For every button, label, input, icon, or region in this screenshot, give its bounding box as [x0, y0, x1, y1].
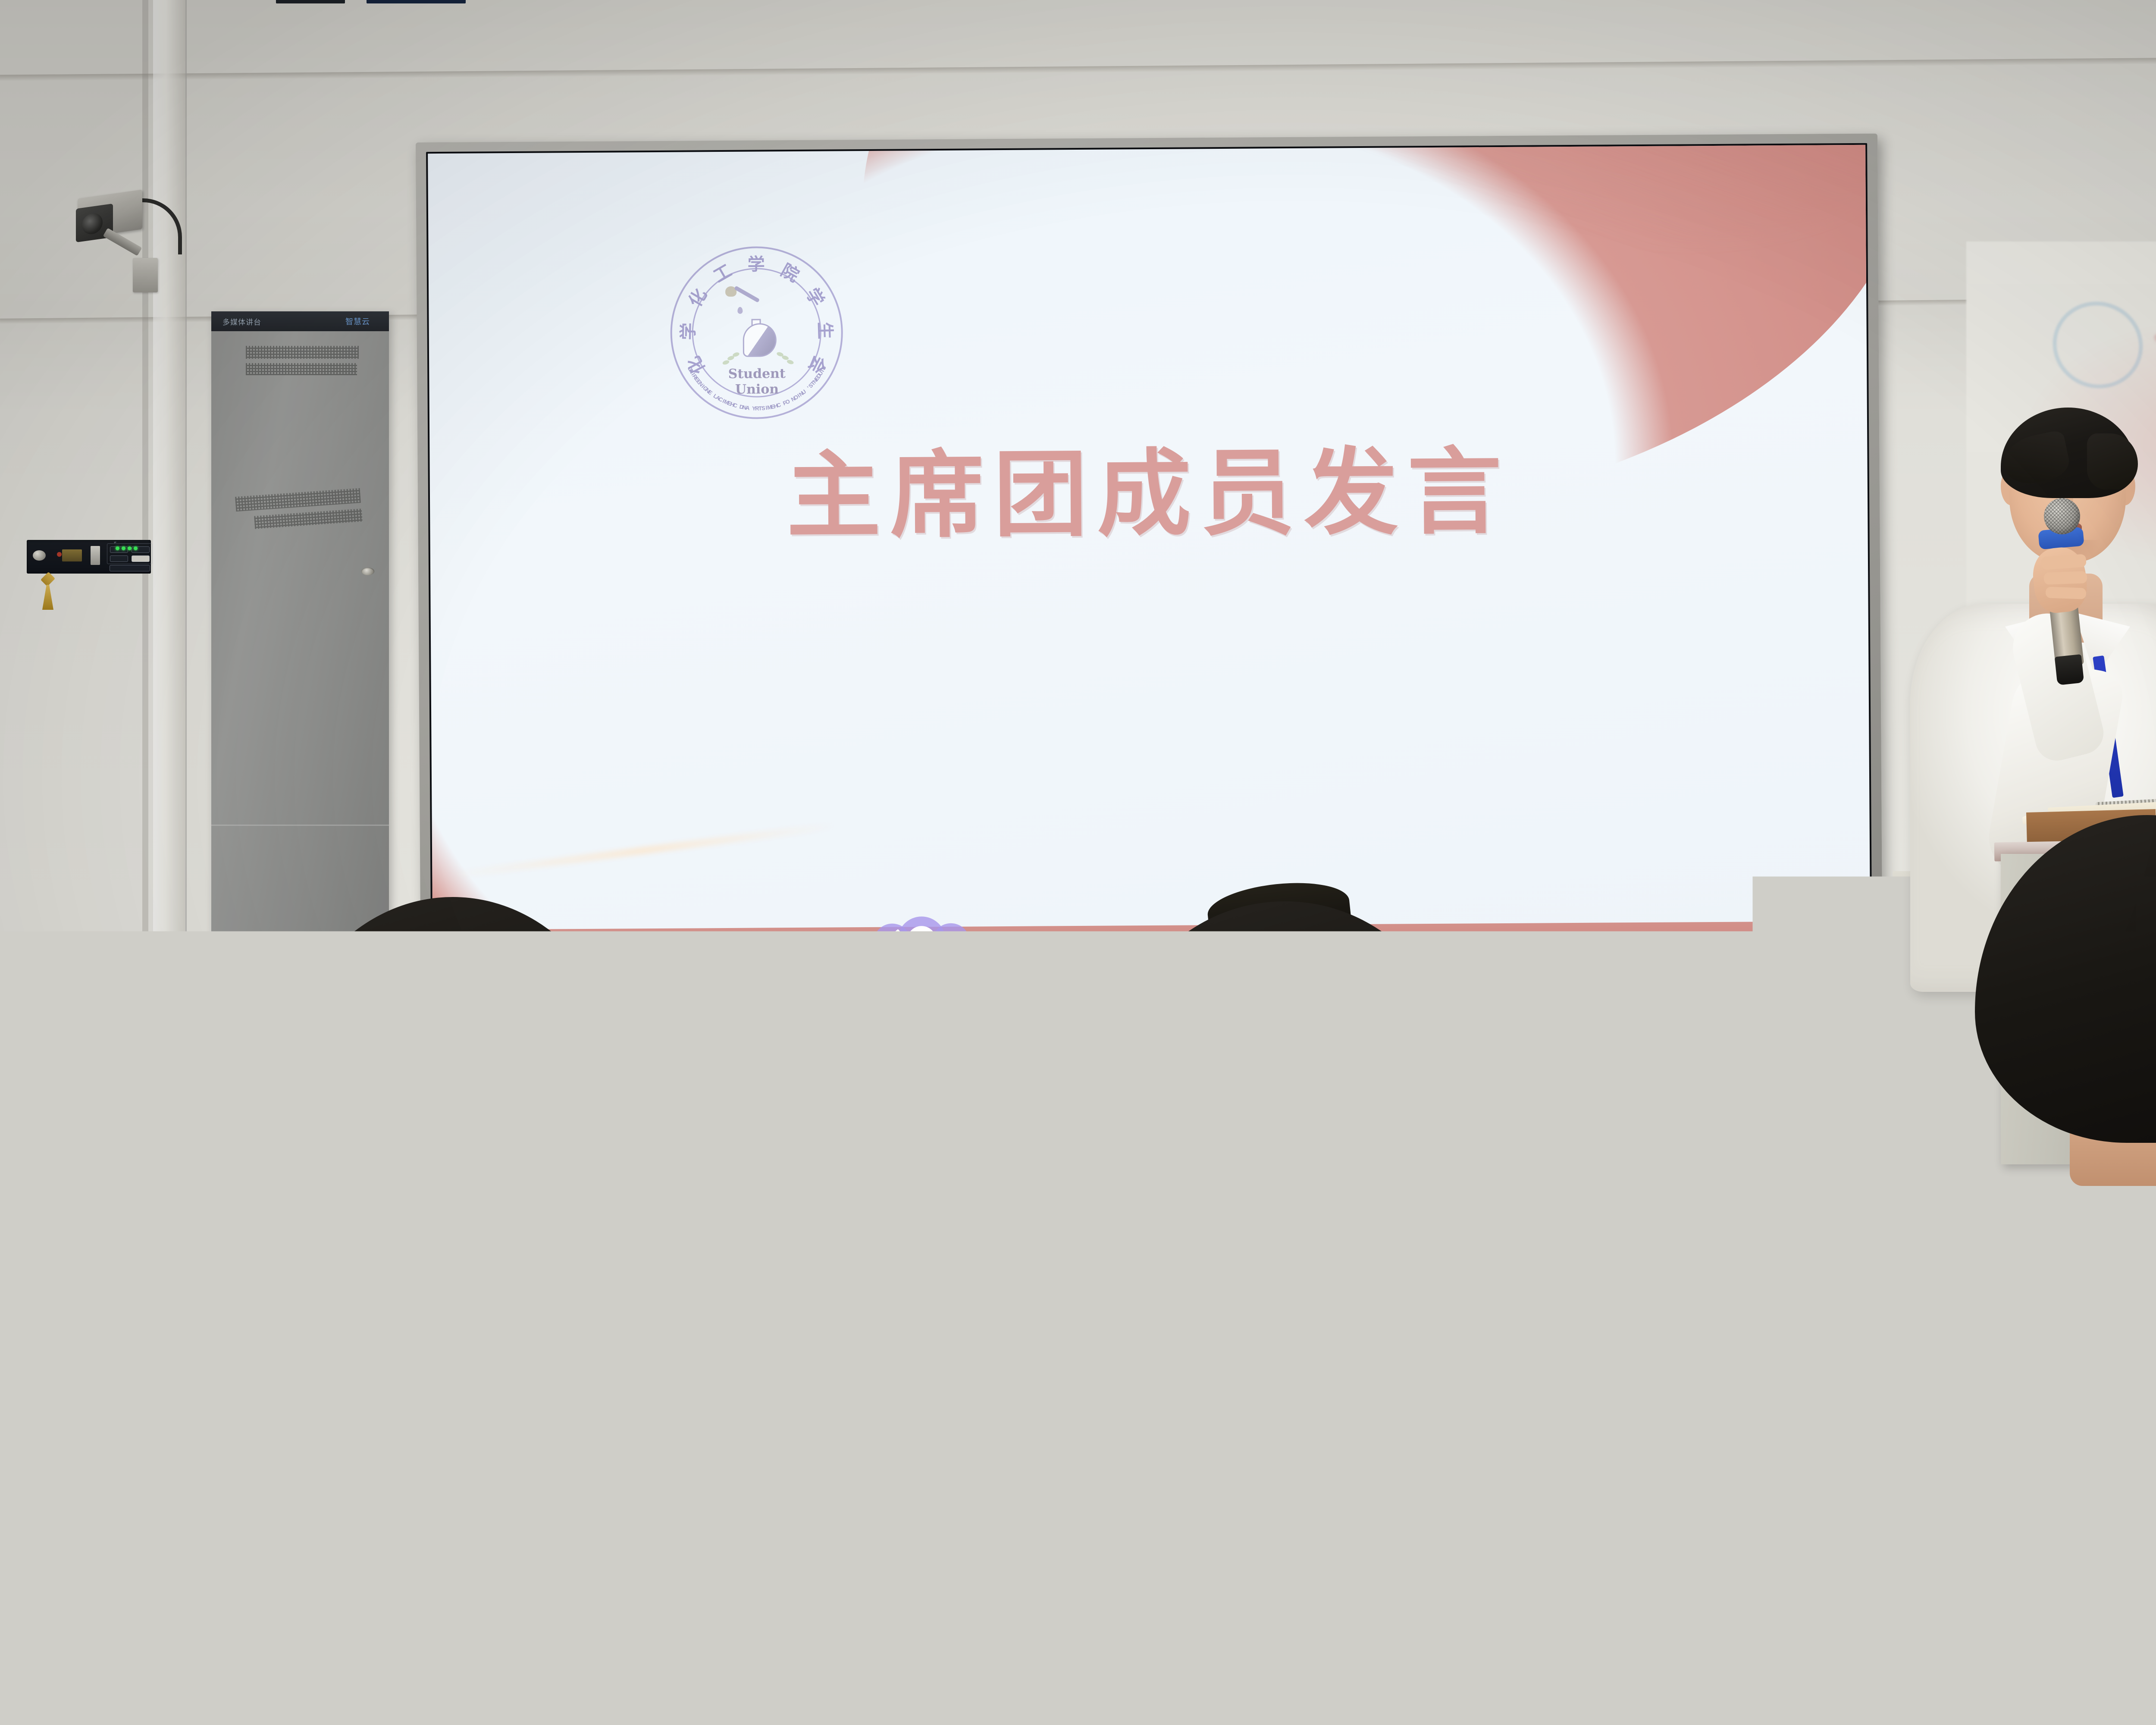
- student-union-logo: 化学化工学院学生会 STUDENTS' UNION OF CHEMISTRY A…: [670, 246, 843, 419]
- slide-title: 主席团成员发言: [429, 442, 1868, 547]
- wall-pillar: [153, 0, 187, 1035]
- power-knob[interactable]: [33, 550, 46, 561]
- cabinet-divider: [211, 825, 389, 826]
- logo-droplet-icon: [737, 307, 743, 314]
- microphone-end-cap: [2055, 654, 2084, 685]
- logo-text-student: Student: [671, 366, 843, 382]
- microphone-grille-icon: [2044, 498, 2080, 534]
- student-middle-jacket: [871, 1225, 1759, 1725]
- cabinet-clip-left: [276, 0, 345, 3]
- student-right-shirt: [1759, 1156, 2156, 1725]
- presentation-toolbar-widget[interactable]: [873, 916, 970, 965]
- logo-dropper-icon: [725, 286, 762, 307]
- camera-wall-mount: [133, 258, 158, 292]
- widget-logo-circle[interactable]: [907, 926, 936, 955]
- cabinet-keyhole[interactable]: [361, 568, 374, 575]
- cabinet-grille-3: [235, 488, 361, 511]
- led-2: [122, 546, 125, 550]
- student-middle-ear: [1380, 1078, 1417, 1135]
- led-1: [116, 546, 119, 550]
- cabinet-brand-strip: 多媒体讲台 智慧云: [211, 311, 389, 331]
- bird-logo-icon: [912, 934, 933, 948]
- source-btn-4-active[interactable]: [132, 555, 150, 562]
- classroom-photo-scene: 多媒体讲台 智慧云: [0, 0, 2156, 1725]
- finger-3: [2046, 586, 2087, 599]
- cabinet-grille-4: [254, 508, 362, 529]
- lock-indicator: [57, 552, 62, 557]
- volume-slider[interactable]: [91, 546, 100, 565]
- security-camera: [78, 185, 190, 310]
- led-4: [134, 546, 138, 550]
- panel-divider-7: [115, 542, 116, 543]
- multimedia-cabinet[interactable]: 多媒体讲台 智慧云: [211, 311, 389, 971]
- panel-divider-6: [114, 543, 115, 543]
- finger-2: [2044, 571, 2087, 584]
- tassel-knot: [41, 572, 55, 586]
- cabinet-brand-left: 多媒体讲台: [222, 316, 261, 327]
- key-tassel: [41, 574, 54, 613]
- camera-lens-icon: [82, 212, 103, 235]
- cabinet-clip-right: [367, 0, 466, 3]
- dropper-tube: [734, 285, 760, 302]
- cabinet-brand-right: 智慧云: [345, 316, 370, 327]
- tassel-skirt: [42, 585, 53, 610]
- student-left-shirt: [43, 1246, 871, 1725]
- cabinet-grille-1: [246, 346, 359, 359]
- screen-icon[interactable]: [941, 935, 959, 947]
- logo-text-union: Union: [671, 381, 843, 397]
- cabinet-grille-2: [246, 363, 357, 375]
- presentation-slide[interactable]: 化学化工学院学生会 STUDENTS' UNION OF CHEMISTRY A…: [428, 145, 1871, 985]
- cabinet-control-panel[interactable]: [27, 540, 151, 574]
- wall-pillar-shadow: [142, 0, 148, 1035]
- projection-screen-bezel: 化学化工学院学生会 STUDENTS' UNION OF CHEMISTRY A…: [426, 143, 1872, 987]
- panel-keylock[interactable]: [62, 549, 82, 561]
- mute-button[interactable]: [110, 565, 150, 571]
- source-btn-3[interactable]: [110, 555, 128, 562]
- projection-screen-frame: 化学化工学院学生会 STUDENTS' UNION OF CHEMISTRY A…: [416, 134, 1883, 997]
- led-3: [128, 546, 132, 550]
